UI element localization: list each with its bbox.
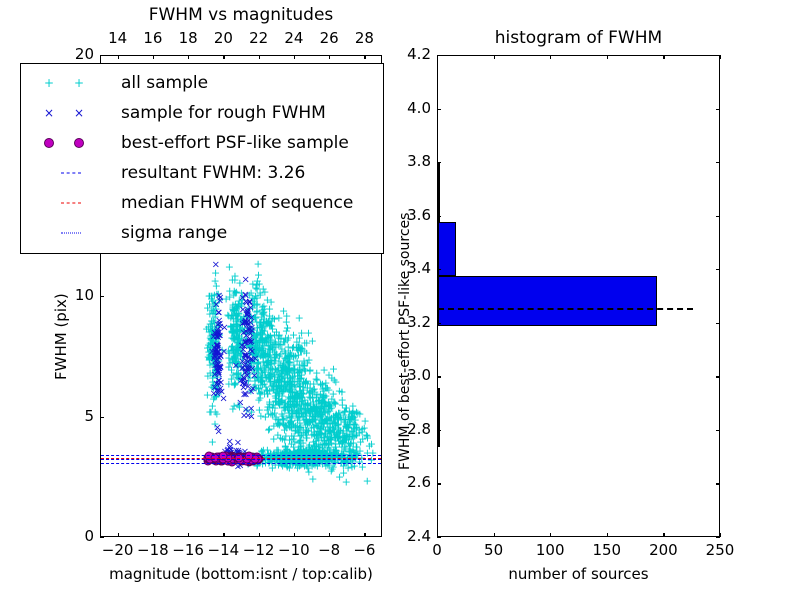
- tickmark: [294, 55, 295, 59]
- scatter-point: +: [292, 335, 301, 348]
- tickmark: [100, 55, 104, 56]
- scatter-point: +: [275, 328, 284, 341]
- scatter-point: +: [316, 378, 325, 391]
- resultant-fwhm-line: [101, 459, 381, 460]
- tickmark: [364, 533, 365, 537]
- tickmark: [550, 55, 551, 59]
- tickmark: [716, 430, 720, 431]
- legend-item-label: all sample: [121, 73, 208, 93]
- legend-item-3: resultant FWHM: 3.26: [29, 158, 375, 188]
- tickmark: [118, 55, 119, 59]
- legend-item-label: sigma range: [121, 223, 227, 243]
- right-ytick: 3.6: [391, 206, 431, 224]
- scatter-point: ×: [212, 260, 220, 271]
- tickmark: [437, 269, 441, 270]
- scatter-point: +: [206, 406, 215, 419]
- tickmark: [223, 55, 224, 59]
- tickmark: [716, 323, 720, 324]
- left-xtick-top: 18: [170, 29, 206, 47]
- histogram-bar: [438, 222, 456, 276]
- left-xtick-top: 28: [346, 29, 382, 47]
- plus-marker-icon: +: [74, 76, 84, 90]
- tickmark: [716, 216, 720, 217]
- dashed-line-icon: [61, 203, 81, 204]
- plus-marker-icon: +: [44, 76, 54, 90]
- legend-item-1: ××sample for rough FWHM: [29, 98, 375, 128]
- scatter-point: ×: [209, 331, 217, 342]
- scatter-point: +: [272, 376, 281, 389]
- legend-item-label: best-effort PSF-like sample: [121, 133, 349, 153]
- tickmark: [437, 430, 441, 431]
- histogram-bar: [438, 388, 440, 447]
- tickmark: [437, 483, 441, 484]
- tickmark: [720, 533, 721, 537]
- scatter-point: +: [296, 379, 305, 392]
- tickmark: [259, 55, 260, 59]
- scatter-point: ×: [210, 389, 218, 400]
- scatter-point: +: [295, 312, 304, 325]
- fwhm-histogram-axes: [437, 55, 720, 537]
- right-xtick: 100: [530, 541, 570, 559]
- scatter-point: +: [273, 413, 282, 426]
- histogram-bar: [438, 163, 440, 222]
- right-xtick: 250: [700, 541, 740, 559]
- scatter-point: +: [255, 277, 264, 290]
- legend-item-label: median FHWM of sequence: [121, 193, 353, 213]
- scatter-point: +: [263, 388, 272, 401]
- right-panel-xlabel: number of sources: [437, 565, 720, 583]
- scatter-point: ×: [214, 355, 222, 366]
- tickmark: [607, 533, 608, 537]
- scatter-point: ×: [244, 410, 252, 421]
- left-xtick-bottom: −16: [170, 541, 206, 559]
- tickmark: [329, 55, 330, 59]
- scatter-point: ×: [212, 379, 220, 390]
- left-xtick-bottom: −14: [205, 541, 241, 559]
- sigma-range-upper-line: [101, 455, 381, 456]
- legend-item-4: median FHWM of sequence: [29, 188, 375, 218]
- tickmark: [663, 55, 664, 59]
- tickmark: [294, 533, 295, 537]
- tickmark: [607, 55, 608, 59]
- tickmark: [494, 533, 495, 537]
- legend-item-label: sample for rough FWHM: [121, 103, 326, 123]
- tickmark: [716, 109, 720, 110]
- tickmark: [663, 533, 664, 537]
- scatter-point: ×: [214, 426, 222, 437]
- left-ytick: 10: [66, 286, 94, 304]
- scatter-point: ×: [247, 337, 255, 348]
- tickmark: [437, 109, 441, 110]
- scatter-point: ×: [240, 360, 248, 371]
- right-ytick: 3.0: [391, 366, 431, 384]
- tickmark: [716, 483, 720, 484]
- tickmark: [716, 269, 720, 270]
- left-panel-title: FWHM vs magnitudes: [100, 5, 382, 25]
- tickmark: [437, 537, 441, 538]
- scatter-point: +: [335, 471, 344, 484]
- tickmark: [716, 162, 720, 163]
- left-ytick: 0: [66, 527, 94, 545]
- cross-marker-icon: ×: [44, 106, 54, 120]
- scatter-point: +: [324, 455, 333, 468]
- scatter-point: ×: [245, 297, 253, 308]
- tickmark: [437, 162, 441, 163]
- dashed-line-icon: [61, 173, 81, 174]
- cross-marker-icon: ×: [74, 106, 84, 120]
- resultant-fwhm-reference-line: [438, 308, 693, 310]
- left-xtick-top: 26: [311, 29, 347, 47]
- right-xtick: 50: [474, 541, 514, 559]
- scatter-point: +: [271, 347, 280, 360]
- histogram-data-layer: [438, 56, 719, 536]
- dash-dot-line-icon: [61, 233, 81, 234]
- right-ytick: 4.0: [391, 99, 431, 117]
- scatter-point: ×: [250, 371, 258, 382]
- tickmark: [223, 533, 224, 537]
- left-xtick-top: 16: [135, 29, 171, 47]
- scatter-point: ×: [241, 275, 249, 286]
- tickmark: [494, 55, 495, 59]
- scatter-point: ×: [214, 308, 222, 319]
- histogram-bar: [438, 276, 657, 327]
- filled-circle-marker-icon: [74, 138, 84, 148]
- tickmark: [716, 537, 720, 538]
- left-ytick: 20: [66, 45, 94, 63]
- tickmark: [153, 533, 154, 537]
- tickmark: [100, 296, 104, 297]
- right-xtick: 200: [643, 541, 683, 559]
- scatter-point: +: [341, 454, 350, 467]
- tickmark: [118, 533, 119, 537]
- left-xtick-bottom: −18: [135, 541, 171, 559]
- tickmark: [100, 417, 104, 418]
- left-xtick-bottom: −8: [311, 541, 347, 559]
- tickmark: [437, 323, 441, 324]
- tickmark: [100, 537, 104, 538]
- right-ytick: 3.4: [391, 259, 431, 277]
- scatter-point: +: [362, 428, 371, 441]
- tickmark: [550, 533, 551, 537]
- left-xtick-bottom: −10: [276, 541, 312, 559]
- legend-item-0: ++all sample: [29, 68, 375, 98]
- scatter-point: ×: [216, 292, 224, 303]
- tickmark: [188, 55, 189, 59]
- left-panel-xlabel: magnitude (bottom:isnt / top:calib): [100, 565, 382, 583]
- right-xtick: 150: [587, 541, 627, 559]
- left-xtick-top: 22: [241, 29, 277, 47]
- scatter-point: +: [345, 419, 354, 432]
- scatter-point: +: [301, 398, 310, 411]
- left-xtick-top: 24: [276, 29, 312, 47]
- left-xtick-top: 20: [205, 29, 241, 47]
- scatter-point: +: [329, 395, 338, 408]
- right-ytick: 3.2: [391, 313, 431, 331]
- right-ytick: 4.2: [391, 45, 431, 63]
- tickmark: [259, 533, 260, 537]
- left-ytick: 5: [66, 407, 94, 425]
- left-xtick-top: 14: [100, 29, 136, 47]
- right-ytick: 2.4: [391, 527, 431, 545]
- left-panel-ylabel: FWHM (pix): [52, 293, 70, 380]
- plot-legend: ++all sample××sample for rough FWHMbest-…: [20, 63, 384, 254]
- tickmark: [437, 216, 441, 217]
- legend-item-5: sigma range: [29, 218, 375, 248]
- scatter-point: ×: [236, 397, 244, 408]
- tickmark: [437, 55, 441, 56]
- scatter-point: +: [363, 475, 372, 488]
- right-panel-title: histogram of FWHM: [437, 28, 720, 48]
- tickmark: [437, 376, 441, 377]
- tickmark: [720, 55, 721, 59]
- scatter-point: +: [303, 415, 312, 428]
- right-ytick: 2.8: [391, 420, 431, 438]
- figure-canvas: ++++++++++++++++++++++++++++++++++++++++…: [0, 0, 800, 600]
- tickmark: [329, 533, 330, 537]
- filled-circle-marker-icon: [44, 138, 54, 148]
- scatter-point: ×: [241, 349, 249, 360]
- sigma-range-lower-line: [101, 463, 381, 464]
- scatter-point: +: [331, 375, 340, 388]
- right-ytick: 2.6: [391, 473, 431, 491]
- tickmark: [716, 376, 720, 377]
- tickmark: [716, 55, 720, 56]
- scatter-point: ×: [241, 317, 249, 328]
- tickmark: [364, 55, 365, 59]
- scatter-point: +: [365, 439, 374, 452]
- scatter-point: +: [285, 349, 294, 362]
- left-xtick-bottom: −12: [241, 541, 277, 559]
- tickmark: [153, 55, 154, 59]
- legend-item-2: best-effort PSF-like sample: [29, 128, 375, 158]
- scatter-point: +: [275, 388, 284, 401]
- left-xtick-bottom: −20: [100, 541, 136, 559]
- right-ytick: 3.8: [391, 152, 431, 170]
- left-xtick-bottom: −6: [346, 541, 382, 559]
- tickmark: [188, 533, 189, 537]
- legend-item-label: resultant FWHM: 3.26: [121, 163, 305, 183]
- scatter-point: +: [230, 270, 239, 283]
